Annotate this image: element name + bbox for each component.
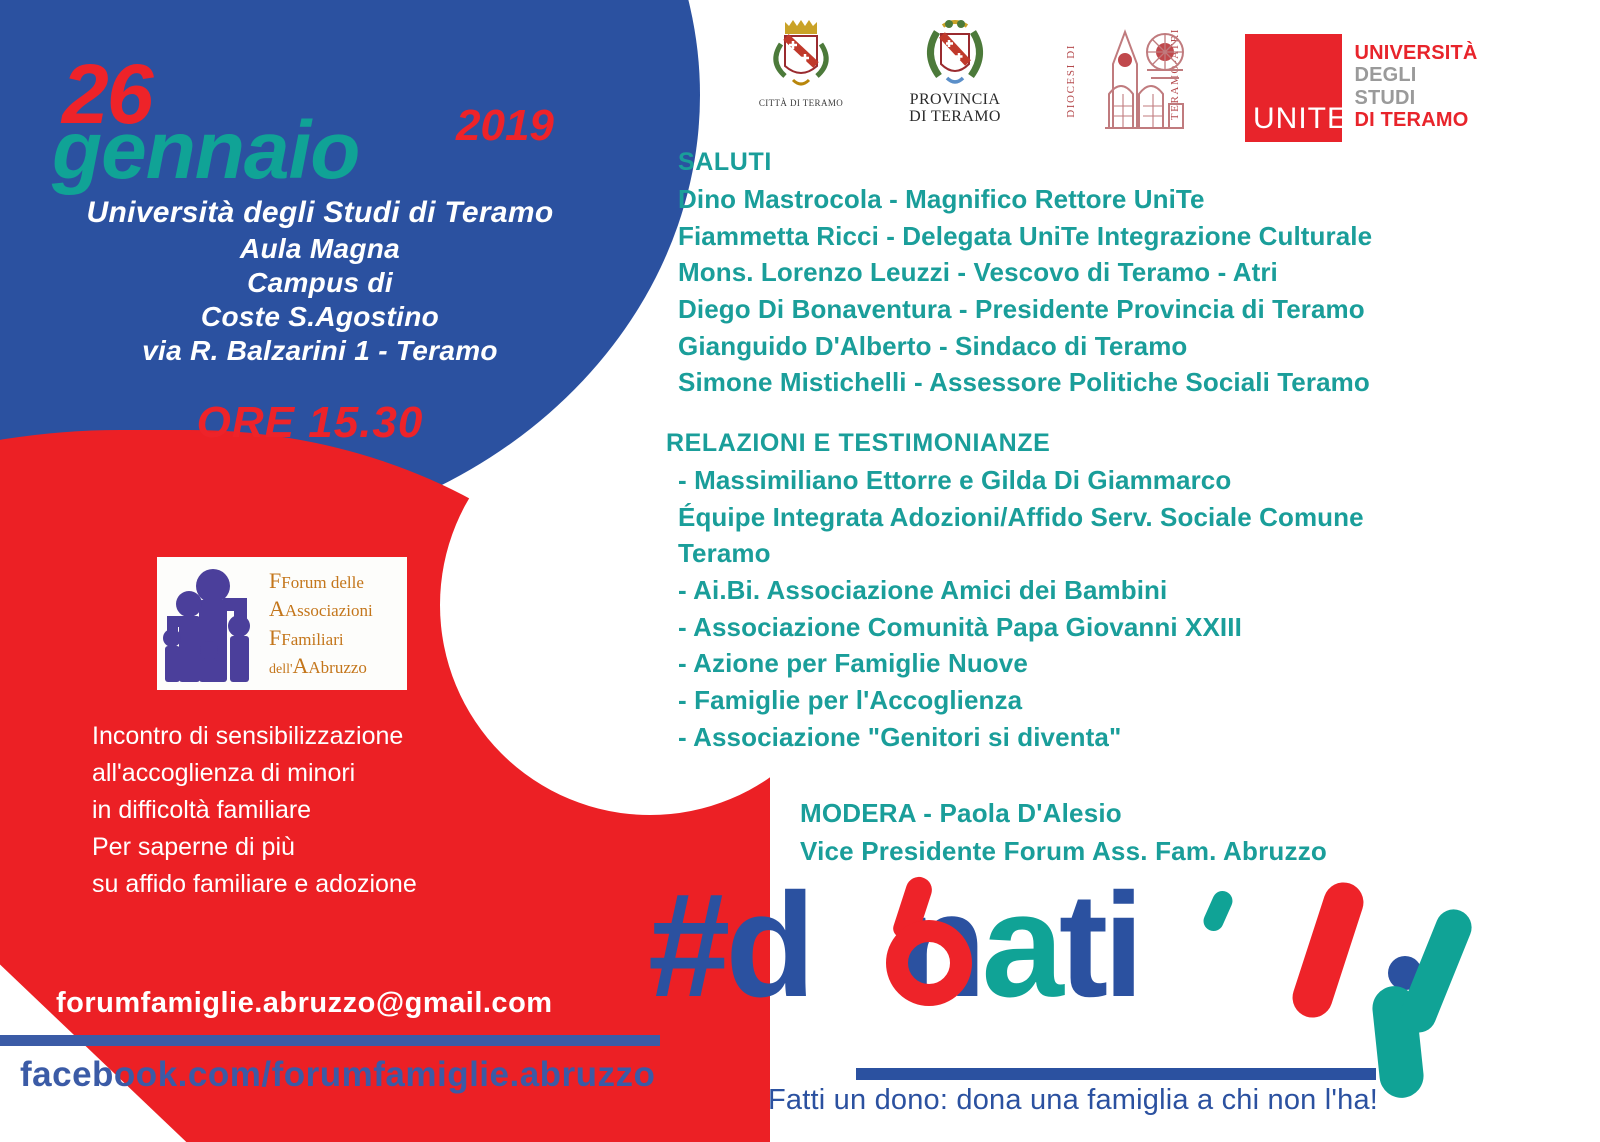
forum-logo-line-3: FFamiliari — [269, 624, 373, 652]
saluti-item: Dino Mastrocola - Magnifico Rettore UniT… — [678, 181, 1578, 218]
saluti-item: Simone Mistichelli - Assessore Politiche… — [678, 364, 1578, 401]
donati-underline — [856, 1068, 1376, 1080]
forum-logo-line-4: dell'AAbruzzo — [269, 652, 373, 680]
venue-line-4: via R. Balzarini 1 - Teramo — [0, 334, 640, 368]
poster-canvas: 26 gennaio 2019 Università degli Studi d… — [0, 0, 1600, 1142]
date-year: 2019 — [456, 104, 554, 148]
saluti-item: Mons. Lorenzo Leuzzi - Vescovo di Teramo… — [678, 254, 1578, 291]
date-month: gennaio — [52, 110, 359, 192]
blurb-line-2: in difficoltà familiare — [92, 792, 562, 829]
venue-line-0: Università degli Studi di Teramo — [0, 195, 640, 232]
relazioni-item: - Ai.Bi. Associazione Amici dei Bambini — [678, 572, 1578, 609]
forum-logo-line-2: AAssociazioni — [269, 595, 373, 623]
blurb-line-0: Incontro di sensibilizzazione — [92, 718, 562, 755]
donati-campaign-logo: #dònati Fatti un dono: dona una famiglia… — [648, 872, 1508, 1122]
donati-red-o — [886, 920, 972, 1006]
donati-red-arm — [1287, 877, 1368, 1023]
forum-associazioni-logo: FForum delle AAssociazioni FFamiliari de… — [157, 557, 407, 690]
donati-a: a — [982, 863, 1059, 1028]
unite-red-square: UNITE — [1245, 34, 1342, 142]
venue-line-2: Campus di — [0, 266, 640, 300]
blurb-line-3: Per saperne di più — [92, 829, 562, 866]
relazioni-section: RELAZIONI E TESTIMONIANZE - Massimiliano… — [678, 429, 1578, 755]
relazioni-item: - Azione per Famiglie Nuove — [678, 645, 1578, 682]
venue-line-3: Coste S.Agostino — [0, 300, 640, 334]
provincia-caption: PROVINCIA DI TERAMO — [909, 92, 1001, 126]
provincia-caption-line1: PROVINCIA — [909, 92, 1001, 109]
donati-payoff: Fatti un dono: dona una famiglia a chi n… — [768, 1084, 1378, 1117]
modera-section: MODERA - Paola D'Alesio Vice Presidente … — [800, 795, 1327, 870]
blurb-line-1: all'accoglienza di minori — [92, 755, 562, 792]
provincia-di-teramo-logo: PROVINCIA DI TERAMO — [909, 14, 1001, 142]
relazioni-heading: RELAZIONI E TESTIMONIANZE — [666, 429, 1578, 458]
contact-facebook[interactable]: facebook.com/forumfamiglie.abruzzo — [20, 1055, 655, 1095]
unite-square-label: UNITE — [1253, 102, 1348, 136]
relazioni-item: - Associazione Comunità Papa Giovanni XX… — [678, 609, 1578, 646]
divider-rule — [0, 1035, 660, 1046]
event-time: ORE 15.30 — [0, 398, 620, 448]
provincia-caption-line2: DI TERAMO — [909, 109, 1001, 126]
citta-di-teramo-caption: CITTÀ DI TERAMO — [759, 98, 843, 108]
saluti-item: Fiammetta Ricci - Delegata UniTe Integra… — [678, 218, 1578, 255]
saluti-section: SALUTI Dino Mastrocola - Magnifico Retto… — [678, 148, 1578, 401]
relazioni-item: Équipe Integrata Adozioni/Affido Serv. S… — [678, 499, 1578, 536]
saluti-item: Diego Di Bonaventura - Presidente Provin… — [678, 291, 1578, 328]
unite-line-1: UNIVERSITÀ — [1354, 42, 1480, 65]
forum-logo-text: FForum delle AAssociazioni FFamiliari de… — [269, 567, 373, 680]
family-figures-icon — [163, 564, 263, 684]
saluti-heading: SALUTI — [678, 148, 1578, 177]
relazioni-item: - Famiglie per l'Accoglienza — [678, 682, 1578, 719]
donati-teal-tick — [1200, 888, 1235, 935]
diocesi-caption-left: DIOCESI DI — [1065, 44, 1077, 118]
unite-logo: UNITE UNIVERSITÀ DEGLI STUDI DI TERAMO — [1245, 34, 1480, 142]
venue-block: Università degli Studi di Teramo Aula Ma… — [0, 195, 640, 368]
donati-hash: #d — [648, 863, 811, 1028]
forum-logo-line-1: FForum delle — [269, 567, 373, 595]
diocesi-teramo-atri-logo: DIOCESI DI TERAMO-ATRI — [1063, 20, 1183, 142]
relazioni-item: - Associazione "Genitori si diventa" — [678, 719, 1578, 756]
citta-di-teramo-logo: CITTÀ DI TERAMO — [755, 14, 847, 142]
venue-line-1: Aula Magna — [0, 232, 640, 266]
saluti-item: Gianguido D'Alberto - Sindaco di Teramo — [678, 328, 1578, 365]
contact-email[interactable]: forumfamiglie.abruzzo@gmail.com — [56, 987, 553, 1020]
unite-line-3: DI TERAMO — [1354, 109, 1480, 132]
program-block: SALUTI Dino Mastrocola - Magnifico Retto… — [678, 148, 1578, 755]
relazioni-item: Teramo — [678, 535, 1578, 572]
relazioni-item: - Massimiliano Ettorre e Gilda Di Giamma… — [678, 462, 1578, 499]
blurb-line-4: su affido familiare e adozione — [92, 866, 562, 903]
modera-line-1: MODERA - Paola D'Alesio — [800, 795, 1327, 833]
event-date: 26 gennaio 2019 — [52, 58, 612, 178]
event-description: Incontro di sensibilizzazione all'accogl… — [92, 718, 562, 903]
donati-ti: ti — [1059, 863, 1139, 1028]
unite-wordmark: UNIVERSITÀ DEGLI STUDI DI TERAMO — [1354, 42, 1480, 142]
sponsor-logo-strip: CITTÀ DI TERAMO PROVINCIA DI TERAMO DIOC… — [755, 14, 1485, 142]
unite-line-2: DEGLI STUDI — [1354, 64, 1480, 109]
